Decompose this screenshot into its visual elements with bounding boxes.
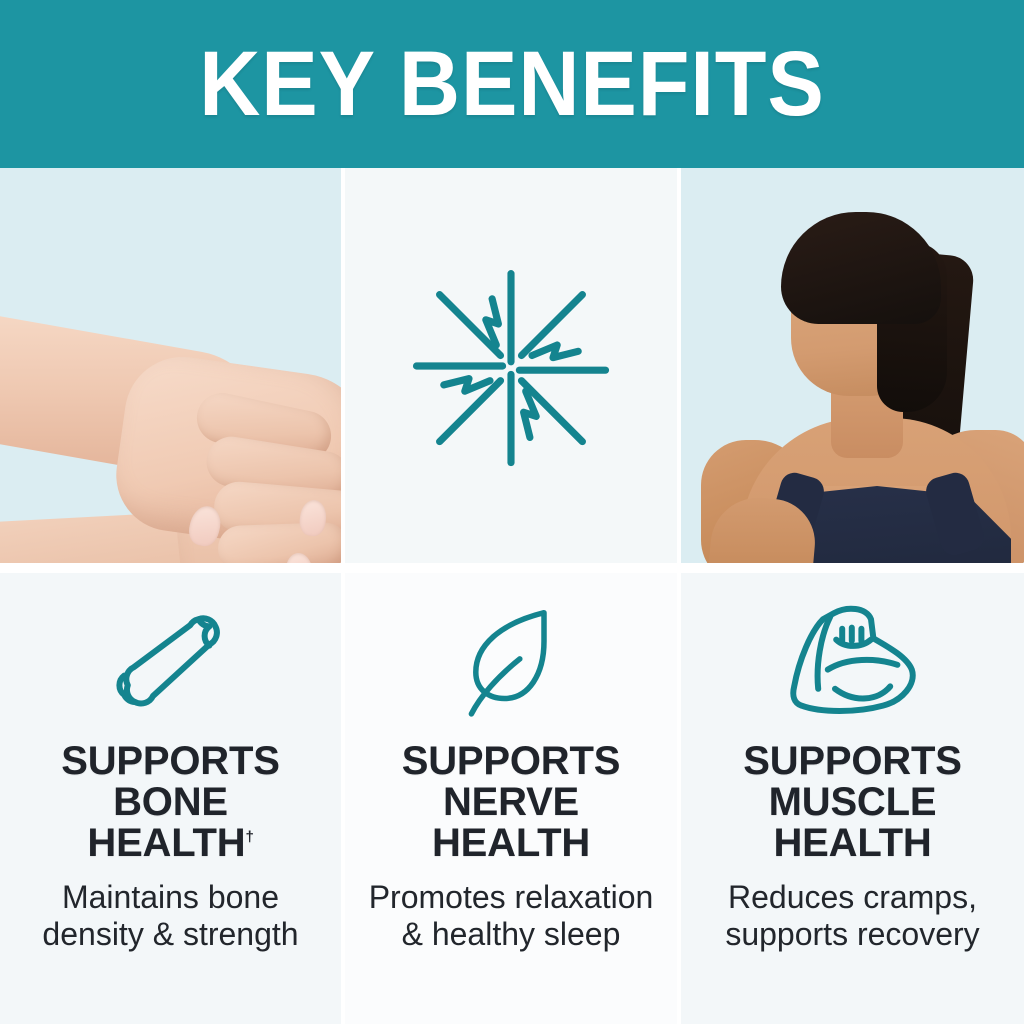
- heading-superscript: †: [245, 829, 253, 846]
- header-banner: KEY BENEFITS: [0, 0, 1024, 168]
- athlete-illustration: [681, 168, 1024, 563]
- benefit-description: Promotes relaxation & healthy sleep: [359, 879, 664, 955]
- nerve-spark-icon: [406, 261, 616, 471]
- row-divider: [0, 563, 1024, 573]
- benefits-row: SUPPORTS BONE HEALTH† Maintains bone den…: [0, 573, 1024, 1024]
- leaf-icon: [456, 598, 566, 722]
- benefit-heading: SUPPORTS BONE HEALTH†: [61, 741, 279, 865]
- clasped-hands-photo: [0, 168, 341, 563]
- desc-line-2: & healthy sleep: [369, 916, 654, 954]
- benefit-heading: SUPPORTS MUSCLE HEALTH: [743, 741, 961, 865]
- heading-line-3: HEALTH: [402, 823, 620, 864]
- heading-line-3: HEALTH: [743, 823, 961, 864]
- desc-line-2: supports recovery: [725, 916, 979, 954]
- benefit-description: Reduces cramps, supports recovery: [715, 879, 989, 955]
- benefit-description: Maintains bone density & strength: [32, 879, 308, 955]
- heading-line-2: NERVE: [402, 782, 620, 823]
- benefit-card-nerve: SUPPORTS NERVE HEALTH Promotes relaxatio…: [345, 573, 677, 1024]
- page-title: KEY BENEFITS: [199, 38, 825, 130]
- benefit-card-muscle: SUPPORTS MUSCLE HEALTH Reduces cramps, s…: [681, 573, 1024, 1024]
- heading-line-3: HEALTH†: [61, 823, 279, 864]
- heading-line-1: SUPPORTS: [402, 741, 620, 782]
- desc-line-1: Maintains bone: [42, 879, 298, 917]
- woman-dumbbell-photo: [681, 168, 1024, 563]
- hands-illustration: [0, 168, 341, 563]
- key-benefits-poster: KEY BENEFITS: [0, 0, 1024, 1024]
- heading-line-1: SUPPORTS: [743, 741, 961, 782]
- benefit-heading: SUPPORTS NERVE HEALTH: [402, 741, 620, 865]
- bone-icon: [107, 600, 235, 720]
- heading-line-2: BONE: [61, 782, 279, 823]
- desc-line-1: Promotes relaxation: [369, 879, 654, 917]
- bicep-flex-icon: [787, 598, 919, 722]
- desc-line-1: Reduces cramps,: [725, 879, 979, 917]
- nerve-spark-icon-panel: [345, 168, 677, 563]
- heading-line-2: MUSCLE: [743, 782, 961, 823]
- photo-row: [0, 168, 1024, 563]
- benefit-card-bone: SUPPORTS BONE HEALTH† Maintains bone den…: [0, 573, 341, 1024]
- desc-line-2: density & strength: [42, 916, 298, 954]
- heading-line-1: SUPPORTS: [61, 741, 279, 782]
